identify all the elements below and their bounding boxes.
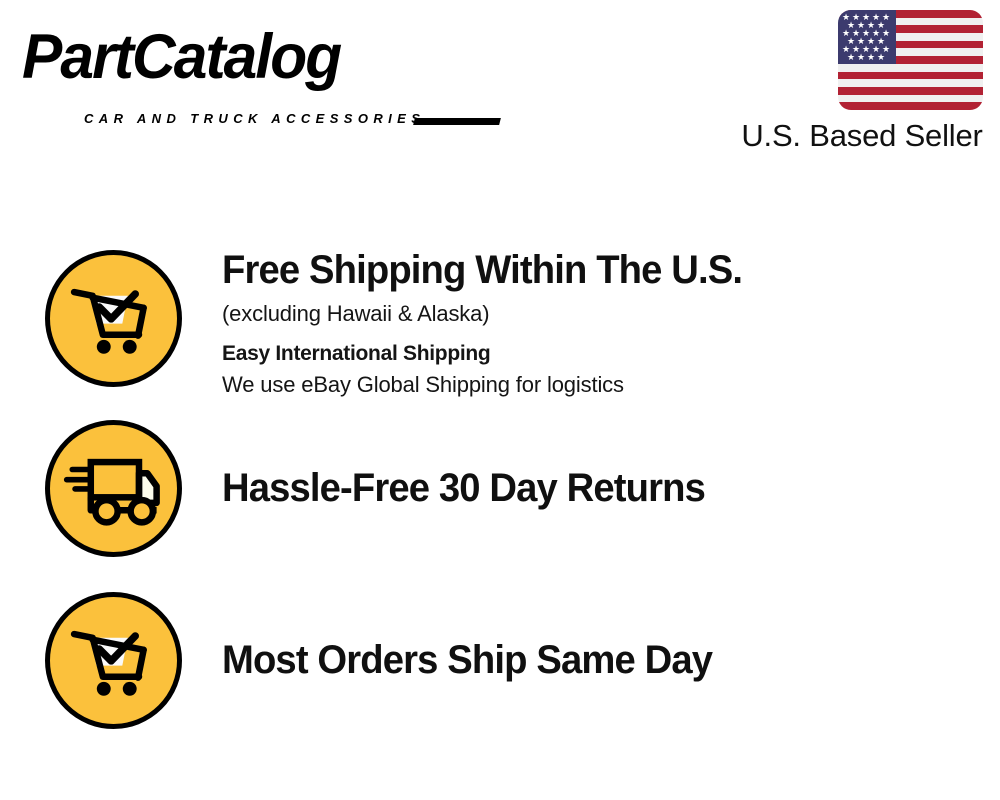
headline-returns: Hassle-Free 30 Day Returns — [222, 466, 929, 510]
feature-text-same-day-shipping: Most Orders Ship Same Day — [222, 592, 962, 682]
brand-wordmark: PartCatalog — [22, 22, 340, 92]
feature-text-returns: Hassle-Free 30 Day Returns — [222, 420, 962, 510]
shopping-cart-check-icon — [45, 250, 182, 387]
delivery-truck-glyph — [50, 425, 177, 552]
brand-tagline: CAR AND TRUCK ACCESSORIES — [84, 111, 425, 126]
brand-logo[interactable]: PartCatalog CAR AND TRUCK ACCESSORIES — [22, 22, 492, 114]
shopping-cart-check-glyph — [50, 597, 177, 724]
note-free-shipping: (excluding Hawaii & Alaska) — [222, 298, 962, 329]
brand-underline-accent — [413, 118, 501, 125]
subtext-international-shipping: We use eBay Global Shipping for logistic… — [222, 369, 962, 400]
flag-canton: ★ ★ ★ ★ ★ ★ ★ ★ ★ ★ ★ ★ ★ ★ ★ ★ ★ ★ ★ ★ … — [838, 10, 896, 64]
page-header: PartCatalog CAR AND TRUCK ACCESSORIES ★ … — [0, 0, 1000, 170]
feature-row-free-shipping: Free Shipping Within The U.S. (excluding… — [0, 248, 1000, 398]
feature-row-returns: Hassle-Free 30 Day Returns — [0, 420, 1000, 566]
feature-row-same-day-shipping: Most Orders Ship Same Day — [0, 592, 1000, 738]
headline-free-shipping: Free Shipping Within The U.S. — [222, 248, 929, 292]
us-based-seller-label: U.S. Based Seller — [726, 118, 998, 154]
delivery-truck-icon — [45, 420, 182, 557]
feature-text-free-shipping: Free Shipping Within The U.S. (excluding… — [222, 248, 962, 400]
shopping-cart-check-icon — [45, 592, 182, 729]
headline-same-day-shipping: Most Orders Ship Same Day — [222, 638, 929, 682]
us-flag-icon: ★ ★ ★ ★ ★ ★ ★ ★ ★ ★ ★ ★ ★ ★ ★ ★ ★ ★ ★ ★ … — [838, 10, 983, 110]
shopping-cart-check-glyph — [50, 255, 177, 382]
subheading-international-shipping: Easy International Shipping — [222, 338, 962, 369]
